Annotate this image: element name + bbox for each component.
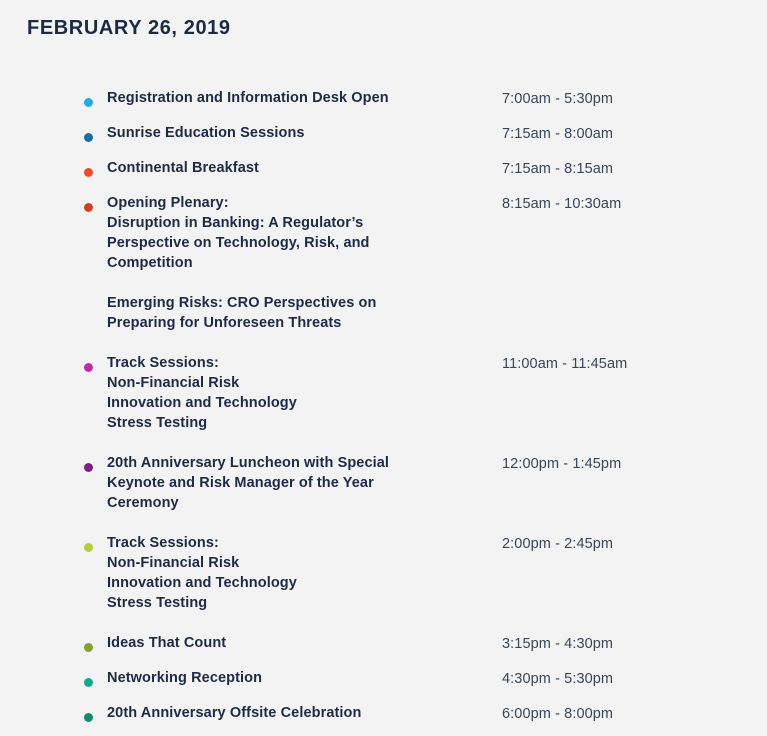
row-spacer [0,513,767,533]
bullet-cell [84,123,107,142]
agenda-item-time-cell: 6:00pm - 8:00pm [502,703,767,724]
bullet-cell [84,453,107,472]
agenda-item-titles: Sunrise Education Sessions [107,123,502,143]
agenda-item-time: 6:00pm - 8:00pm [502,704,767,724]
agenda-item-line: Registration and Information Desk Open [107,88,496,108]
agenda-item: Track Sessions:Non-Financial RiskInnovat… [0,533,767,613]
agenda-item-line: Ceremony [107,493,496,513]
agenda-item-line: Keynote and Risk Manager of the Year [107,473,496,493]
agenda-page: FEBRUARY 26, 2019 Registration and Infor… [0,0,767,736]
bullet-dot-icon [84,203,93,212]
agenda-item-line: Networking Reception [107,668,496,688]
row-spacer [0,689,767,703]
agenda-item-row: Continental Breakfast7:15am - 8:15am [0,158,767,179]
bullet-dot-icon [84,678,93,687]
agenda-item-titles: Track Sessions:Non-Financial RiskInnovat… [107,353,502,433]
agenda-item-line: Stress Testing [107,413,496,433]
agenda-item: Networking Reception4:30pm - 5:30pm [0,668,767,689]
agenda-item-time-cell: 4:30pm - 5:30pm [502,668,767,689]
agenda-item-titles: Continental Breakfast [107,158,502,178]
agenda-item-row: 20th Anniversary Luncheon with SpecialKe… [0,453,767,513]
row-spacer [0,179,767,193]
agenda-item-time-cell: 12:00pm - 1:45pm [502,453,767,474]
agenda-item-line: Competition [107,253,496,273]
agenda-item-time-cell: 7:15am - 8:00am [502,123,767,144]
bullet-cell [84,703,107,722]
agenda-item: 20th Anniversary Offsite Celebration6:00… [0,703,767,724]
bullet-cell [84,158,107,177]
agenda-item-titles: Opening Plenary:Disruption in Banking: A… [107,193,502,333]
agenda-item-line: Sunrise Education Sessions [107,123,496,143]
agenda-item-row: Opening Plenary:Disruption in Banking: A… [0,193,767,333]
agenda-item-time-cell: 8:15am - 10:30am [502,193,767,214]
agenda-item-time: 7:15am - 8:00am [502,124,767,144]
bullet-dot-icon [84,98,93,107]
agenda-item: Opening Plenary:Disruption in Banking: A… [0,193,767,333]
agenda-item-time: 3:15pm - 4:30pm [502,634,767,654]
agenda-item-secondary-line: Emerging Risks: CRO Perspectives on [107,293,496,313]
bullet-dot-icon [84,168,93,177]
agenda-item-line: Innovation and Technology [107,573,496,593]
agenda-item-time-cell: 2:00pm - 2:45pm [502,533,767,554]
agenda-item-secondary-line: Preparing for Unforeseen Threats [107,313,496,333]
agenda-item: Ideas That Count3:15pm - 4:30pm [0,633,767,654]
bullet-cell [84,668,107,687]
agenda-item: Continental Breakfast7:15am - 8:15am [0,158,767,179]
agenda-item-line: Non-Financial Risk [107,373,496,393]
agenda-item-time-cell: 11:00am - 11:45am [502,353,767,374]
agenda-item-row: Sunrise Education Sessions7:15am - 8:00a… [0,123,767,144]
row-spacer [0,109,767,123]
bullet-cell [84,193,107,212]
bullet-cell [84,88,107,107]
agenda-item-line: Stress Testing [107,593,496,613]
agenda-item-time: 11:00am - 11:45am [502,354,767,374]
bullet-cell [84,353,107,372]
bullet-cell [84,533,107,552]
agenda-item-time: 12:00pm - 1:45pm [502,454,767,474]
agenda-item-row: Registration and Information Desk Open7:… [0,88,767,109]
agenda-item-titles: 20th Anniversary Luncheon with SpecialKe… [107,453,502,513]
agenda-item: Registration and Information Desk Open7:… [0,88,767,109]
agenda-item-line: Perspective on Technology, Risk, and [107,233,496,253]
agenda-item-line: Non-Financial Risk [107,553,496,573]
agenda-item-line: Disruption in Banking: A Regulator’s [107,213,496,233]
agenda-item-row: Ideas That Count3:15pm - 4:30pm [0,633,767,654]
bullet-dot-icon [84,133,93,142]
agenda-item-line: Ideas That Count [107,633,496,653]
bullet-dot-icon [84,713,93,722]
bullet-dot-icon [84,363,93,372]
agenda-item-row: 20th Anniversary Offsite Celebration6:00… [0,703,767,724]
agenda-item: Track Sessions:Non-Financial RiskInnovat… [0,353,767,433]
agenda-item-time-cell: 3:15pm - 4:30pm [502,633,767,654]
agenda-item-line: 20th Anniversary Offsite Celebration [107,703,496,723]
agenda-item-time: 8:15am - 10:30am [502,194,767,214]
agenda-item-line: Opening Plenary: [107,193,496,213]
agenda-item-titles: Registration and Information Desk Open [107,88,502,108]
page-title: FEBRUARY 26, 2019 [27,15,231,41]
agenda-item-titles: Ideas That Count [107,633,502,653]
bullet-dot-icon [84,643,93,652]
agenda-item-time-cell: 7:15am - 8:15am [502,158,767,179]
agenda-item-time: 7:15am - 8:15am [502,159,767,179]
row-spacer [0,433,767,453]
agenda-list: Registration and Information Desk Open7:… [0,88,767,724]
row-spacer [0,333,767,353]
agenda-item-row: Track Sessions:Non-Financial RiskInnovat… [0,353,767,433]
agenda-item-titles: 20th Anniversary Offsite Celebration [107,703,502,723]
agenda-item-row: Networking Reception4:30pm - 5:30pm [0,668,767,689]
agenda-item-line: Track Sessions: [107,353,496,373]
agenda-item: 20th Anniversary Luncheon with SpecialKe… [0,453,767,513]
agenda-item-line: 20th Anniversary Luncheon with Special [107,453,496,473]
row-spacer [0,144,767,158]
agenda-item-line: Innovation and Technology [107,393,496,413]
bullet-dot-icon [84,463,93,472]
row-spacer [0,654,767,668]
agenda-item-row: Track Sessions:Non-Financial RiskInnovat… [0,533,767,613]
bullet-cell [84,633,107,652]
agenda-item-time: 4:30pm - 5:30pm [502,669,767,689]
agenda-item: Sunrise Education Sessions7:15am - 8:00a… [0,123,767,144]
agenda-item-titles: Networking Reception [107,668,502,688]
agenda-item-line: Continental Breakfast [107,158,496,178]
bullet-dot-icon [84,543,93,552]
agenda-item-time: 2:00pm - 2:45pm [502,534,767,554]
agenda-item-line: Track Sessions: [107,533,496,553]
agenda-item-time: 7:00am - 5:30pm [502,89,767,109]
agenda-item-time-cell: 7:00am - 5:30pm [502,88,767,109]
agenda-item-titles: Track Sessions:Non-Financial RiskInnovat… [107,533,502,613]
row-spacer [0,613,767,633]
